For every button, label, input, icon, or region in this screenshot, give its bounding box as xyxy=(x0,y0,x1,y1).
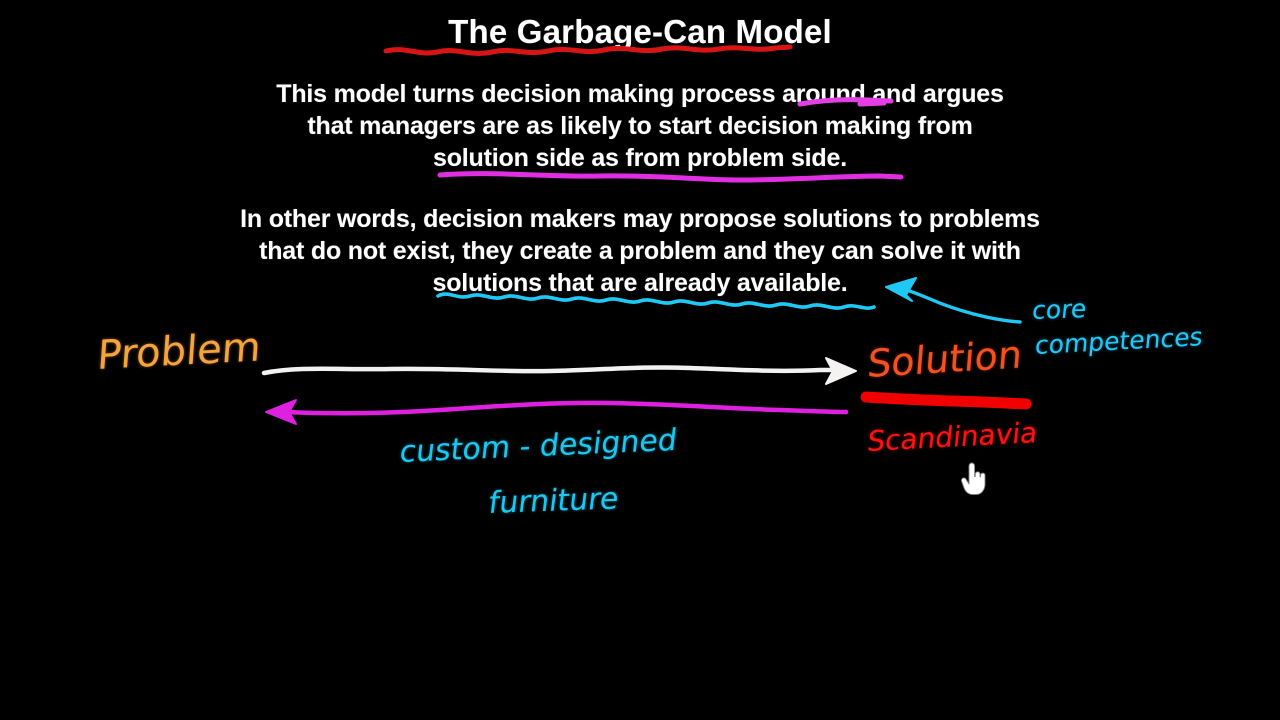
paragraph-2: In other words, decision makers may prop… xyxy=(0,203,1280,299)
forward-arrow-line-ink xyxy=(264,367,838,373)
paragraph-1-underline-ink xyxy=(440,174,901,180)
annotation-problem: Problem xyxy=(96,327,262,376)
annotation-core: core xyxy=(1031,296,1088,323)
annotation-furniture: furniture xyxy=(487,484,620,519)
slide-canvas: The Garbage-Can Model This model turns d… xyxy=(0,0,1280,720)
annotation-solution: Solution xyxy=(866,335,1024,383)
annotation-scandinavia: Scandinavia xyxy=(866,419,1039,456)
page-title: The Garbage-Can Model xyxy=(0,11,1280,53)
solution-underline-ink xyxy=(866,397,1026,404)
backward-arrow-line-ink xyxy=(284,403,846,413)
forward-arrowhead-icon xyxy=(826,358,856,384)
paragraph-1: This model turns decision making process… xyxy=(0,78,1280,174)
annotation-custom-designed: custom - designed xyxy=(398,426,679,468)
annotation-competences: competences xyxy=(1034,324,1204,358)
backward-arrowhead-icon xyxy=(266,400,296,424)
mouse-cursor-pointing-hand-icon xyxy=(960,462,986,496)
